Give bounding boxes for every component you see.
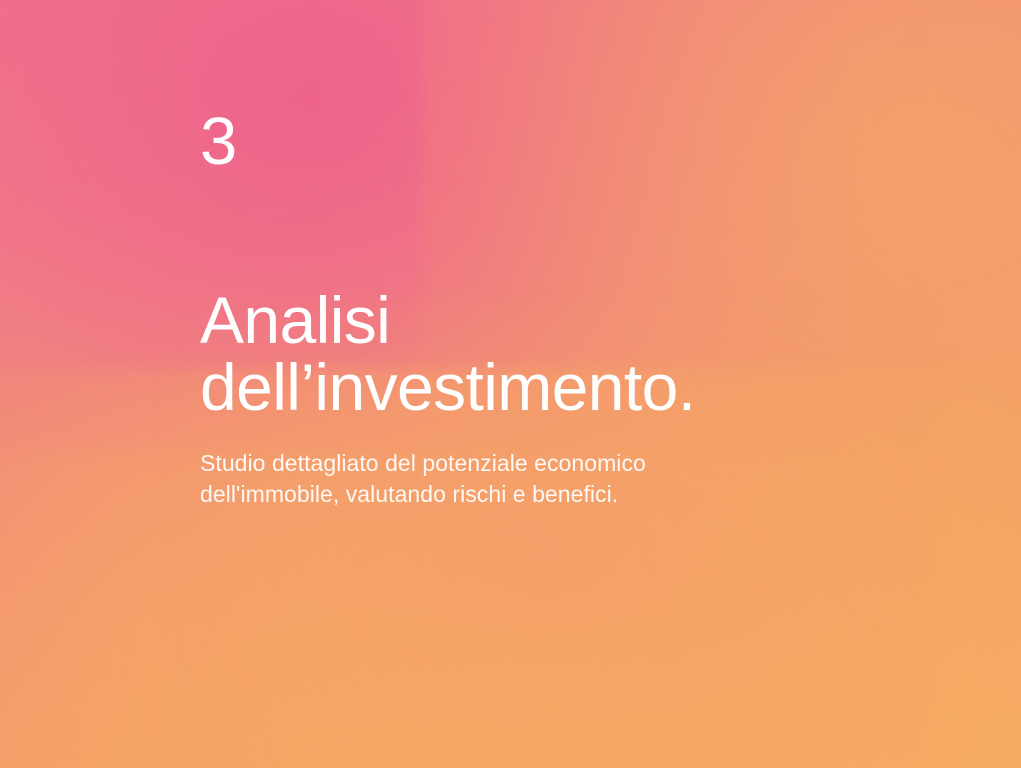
section-number: 3 [200,108,238,175]
slide-content: 3 Analisi dell’investimento. Studio dett… [200,0,960,768]
slide-subtitle: Studio dettagliato del potenziale econom… [200,448,820,510]
slide-title: Analisi dell’investimento. [200,287,960,421]
slide-root: 3 Analisi dell’investimento. Studio dett… [0,0,1021,768]
